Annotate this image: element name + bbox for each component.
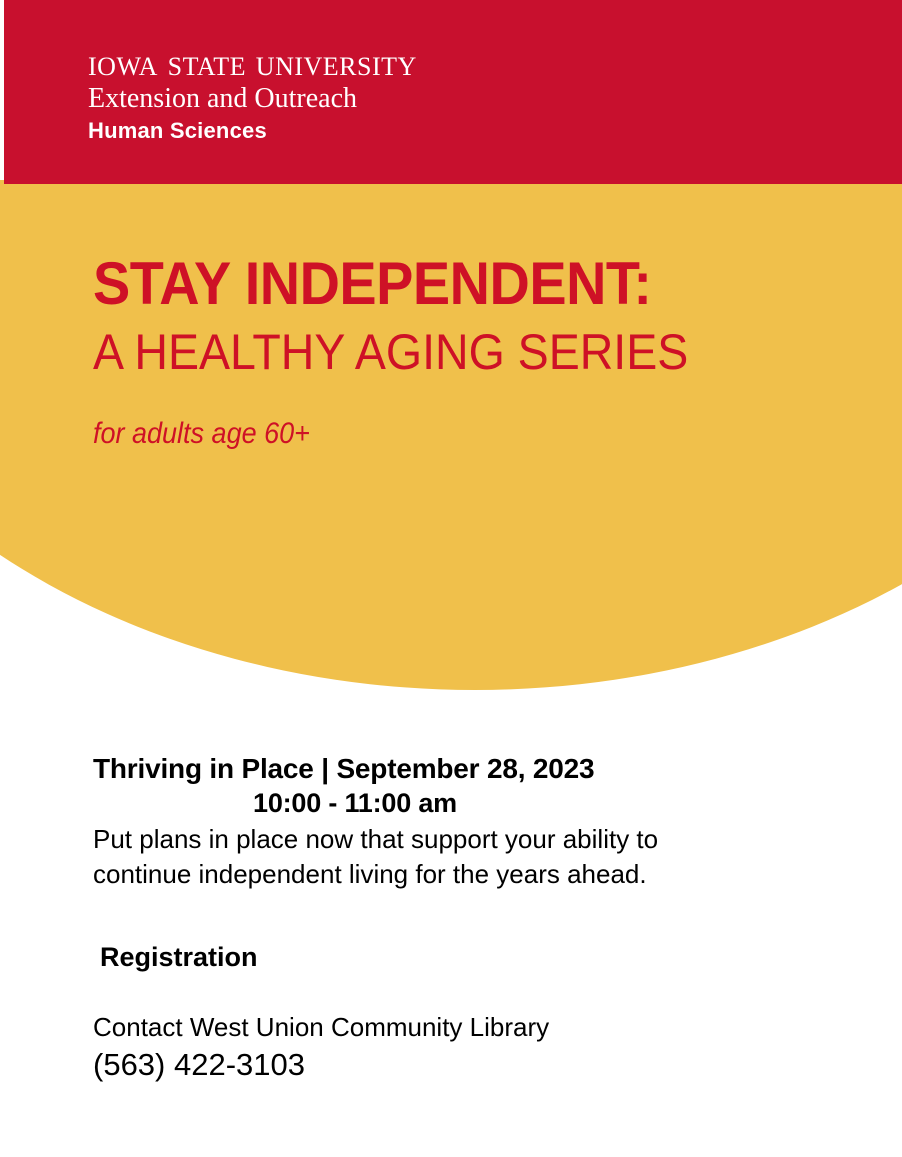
logo-program-name: Human Sciences bbox=[88, 118, 417, 144]
logo-unit-name: Extension and Outreach bbox=[88, 83, 417, 114]
flyer-page: Iowa State University Extension and Outr… bbox=[0, 0, 902, 1157]
session-title-and-date: Thriving in Place | September 28, 2023 bbox=[93, 752, 793, 786]
registration-heading: Registration bbox=[93, 940, 793, 974]
flyer-audience-note: for adults age 60+ bbox=[93, 416, 669, 452]
flyer-title-main: STAY INDEPENDENT: bbox=[93, 252, 688, 316]
session-description: Put plans in place now that support your… bbox=[93, 822, 743, 892]
logo-university-name: Iowa State University bbox=[88, 44, 417, 84]
flyer-title-subtitle: A HEALTHY AGING SERIES bbox=[93, 324, 688, 380]
flyer-body-content: Thriving in Place | September 28, 2023 1… bbox=[93, 752, 793, 1084]
session-time: 10:00 - 11:00 am bbox=[93, 786, 793, 820]
header-band: Iowa State University Extension and Outr… bbox=[4, 0, 902, 184]
isu-extension-logo: Iowa State University Extension and Outr… bbox=[88, 44, 417, 144]
contact-phone-number: (563) 422-3103 bbox=[93, 1046, 793, 1084]
contact-organization: Contact West Union Community Library bbox=[93, 1010, 793, 1044]
hero-title-block: STAY INDEPENDENT: A HEALTHY AGING SERIES… bbox=[93, 252, 733, 452]
